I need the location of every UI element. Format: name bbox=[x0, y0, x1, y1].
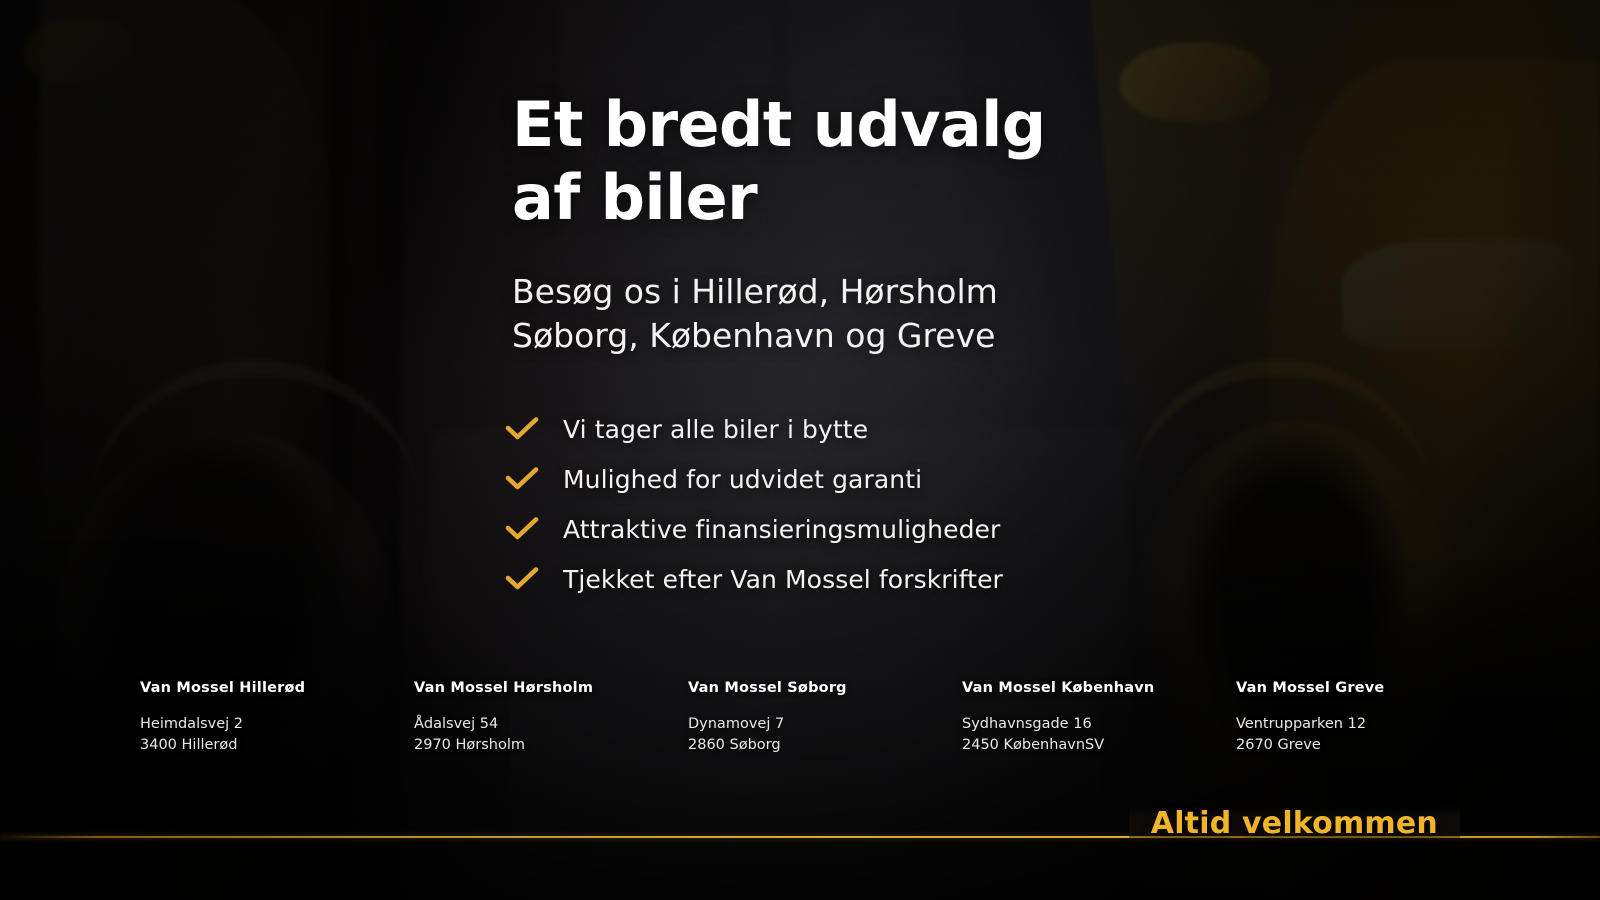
benefit-label: Tjekket efter Van Mossel forskrifter bbox=[563, 565, 1003, 594]
location-name: Van Mossel Greve bbox=[1236, 680, 1510, 696]
location-name: Van Mossel Hillerød bbox=[140, 680, 414, 696]
location-city: 2860 Søborg bbox=[688, 735, 962, 756]
list-item: Mulighed for udvidet garanti bbox=[505, 454, 1003, 504]
benefit-label: Mulighed for udvidet garanti bbox=[563, 465, 922, 494]
location-street: Heimdalsvej 2 bbox=[140, 714, 414, 735]
location-city: 2970 Hørsholm bbox=[414, 735, 688, 756]
location-card: Van Mossel Søborg Dynamovej 7 2860 Søbor… bbox=[688, 680, 962, 756]
location-city: 2670 Greve bbox=[1236, 735, 1510, 756]
location-card: Van Mossel Hørsholm Ådalsvej 54 2970 Hør… bbox=[414, 680, 688, 756]
check-icon bbox=[505, 416, 539, 442]
list-item: Attraktive finansieringsmuligheder bbox=[505, 504, 1003, 554]
benefit-label: Vi tager alle biler i bytte bbox=[563, 415, 868, 444]
list-item: Vi tager alle biler i bytte bbox=[505, 404, 1003, 454]
location-city: 2450 KøbenhavnSV bbox=[962, 735, 1236, 756]
location-card: Van Mossel Greve Ventrupparken 12 2670 G… bbox=[1236, 680, 1510, 756]
location-name: Van Mossel Hørsholm bbox=[414, 680, 688, 696]
check-icon bbox=[505, 566, 539, 592]
footer-tagline: Altid velkommen bbox=[1129, 806, 1460, 841]
location-city: 3400 Hillerød bbox=[140, 735, 414, 756]
dealership-locations: Van Mossel Hillerød Heimdalsvej 2 3400 H… bbox=[140, 680, 1510, 756]
location-street: Dynamovej 7 bbox=[688, 714, 962, 735]
location-street: Sydhavnsgade 16 bbox=[962, 714, 1236, 735]
hero-content: Et bredt udvalg af biler Besøg os i Hill… bbox=[0, 0, 1600, 900]
location-card: Van Mossel Hillerød Heimdalsvej 2 3400 H… bbox=[140, 680, 414, 756]
hero-banner: Et bredt udvalg af biler Besøg os i Hill… bbox=[0, 0, 1600, 900]
list-item: Tjekket efter Van Mossel forskrifter bbox=[505, 554, 1003, 604]
page-subtitle: Besøg os i Hillerød, Hørsholm Søborg, Kø… bbox=[512, 270, 1272, 358]
benefit-label: Attraktive finansieringsmuligheder bbox=[563, 515, 1000, 544]
location-card: Van Mossel København Sydhavnsgade 16 245… bbox=[962, 680, 1236, 756]
location-name: Van Mossel Søborg bbox=[688, 680, 962, 696]
page-title: Et bredt udvalg af biler bbox=[512, 88, 1232, 234]
check-icon bbox=[505, 516, 539, 542]
location-street: Ådalsvej 54 bbox=[414, 714, 688, 735]
benefits-list: Vi tager alle biler i bytte Mulighed for… bbox=[505, 404, 1003, 604]
check-icon bbox=[505, 466, 539, 492]
location-street: Ventrupparken 12 bbox=[1236, 714, 1510, 735]
location-name: Van Mossel København bbox=[962, 680, 1236, 696]
